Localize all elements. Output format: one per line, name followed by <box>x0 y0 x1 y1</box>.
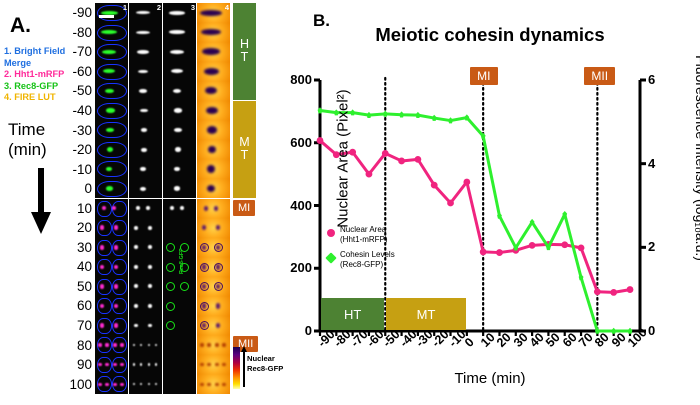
fluorescence-signal <box>200 343 203 346</box>
image-strip-row[interactable] <box>95 159 231 179</box>
fluorescence-signal <box>204 206 209 211</box>
fluorescence-signal <box>105 89 114 93</box>
fluorescence-signal <box>207 185 216 192</box>
timepoint-label: -10 <box>72 162 92 177</box>
micrograph-cell-ch3[interactable] <box>163 81 196 101</box>
fluorescence-signal <box>216 225 221 230</box>
colorbar-caption-line2: Rec8-GFP <box>247 364 283 374</box>
time-direction-arrow-icon <box>36 168 46 234</box>
fluorescence-signal <box>174 108 183 112</box>
legend-label-0: Nuclear Area(Hht1-mRFP) <box>340 225 388 244</box>
legend-label-line2: (Rec8-GFP) <box>340 260 395 270</box>
micrograph-cell-ch2[interactable] <box>129 42 162 62</box>
fluorescence-signal <box>200 10 221 16</box>
fluorescence-signal <box>140 167 145 171</box>
micrograph-cell-ch1[interactable] <box>95 140 128 160</box>
fluorescence-signal <box>215 383 218 386</box>
fluorescence-signal <box>170 206 174 210</box>
rec8-foci-marker <box>166 282 175 291</box>
phase-label-line: T <box>241 51 249 64</box>
fluorescence-signal <box>207 363 210 366</box>
timepoint-label: 70 <box>77 318 92 333</box>
chart-event-badge-mii: MII <box>584 67 615 85</box>
fluorescence-signal <box>134 284 138 288</box>
fluorescence-signal <box>120 343 123 346</box>
micrograph-cell-ch4[interactable] <box>197 62 230 82</box>
channel-number-4: 4 <box>225 3 229 12</box>
micrograph-cell-ch4[interactable] <box>197 316 230 336</box>
micrograph-cell-ch3[interactable]: 3 <box>163 3 196 23</box>
fluorescence-signal <box>140 363 143 366</box>
micrograph-cell-ch4[interactable] <box>197 159 230 179</box>
time-axis-caption-line1: Time <box>8 120 47 140</box>
image-strip-row[interactable]: 1234 <box>95 3 231 23</box>
micrograph-cell-ch1[interactable] <box>95 159 128 179</box>
micrograph-cell-ch3[interactable] <box>163 179 196 199</box>
micrograph-cell-ch3[interactable] <box>163 199 196 219</box>
image-strip-row[interactable] <box>95 120 231 140</box>
rec8-foci-marker <box>200 243 209 252</box>
micrograph-cell-ch2[interactable] <box>129 374 162 394</box>
fluorescence-signal <box>140 109 148 113</box>
micrograph-cell-ch2[interactable] <box>129 355 162 375</box>
micrograph-cell-ch3[interactable] <box>163 316 196 336</box>
micrograph-cell-ch1[interactable] <box>95 120 128 140</box>
fluorescence-signal <box>207 343 210 346</box>
series-marker-0[interactable] <box>627 286 634 293</box>
y-tick-label-left: 800 <box>290 72 312 87</box>
event-badge-mi: MI <box>233 200 255 216</box>
timepoint-label: 20 <box>77 220 92 235</box>
fluorescence-signal <box>174 186 181 190</box>
image-strip-row[interactable] <box>95 81 231 101</box>
fluorescence-signal <box>173 89 182 93</box>
micrograph-cell-ch2[interactable] <box>129 257 162 277</box>
fluorescence-signal <box>214 206 219 211</box>
y-tick-label-left: 200 <box>290 260 312 275</box>
fluorescence-signal <box>107 147 113 152</box>
rec8-foci-marker <box>200 302 209 311</box>
rec8-foci-marker <box>214 282 223 291</box>
micrograph-cell-ch3[interactable] <box>163 159 196 179</box>
series-marker-1[interactable] <box>399 111 404 117</box>
fluorescence-signal <box>98 363 101 366</box>
micrograph-cell-ch2[interactable] <box>129 335 162 355</box>
colorbar-gradient <box>233 347 240 389</box>
series-marker-0[interactable] <box>398 158 405 165</box>
fluorescence-signal <box>222 343 225 346</box>
fluorescence-signal <box>113 363 116 366</box>
micrograph-cell-ch3[interactable] <box>163 62 196 82</box>
rec8-foci-marker <box>214 243 223 252</box>
fluorescence-signal <box>148 226 152 230</box>
panel-a-timepoint-labels: -90-80-70-60-50-40-30-20-100102030405060… <box>52 0 94 400</box>
micrograph-cell-ch3[interactable] <box>163 374 196 394</box>
series-marker-0[interactable] <box>366 171 373 178</box>
fluorescence-signal <box>148 284 152 288</box>
rec8-colorbar: Nuclear Rec8-GFP <box>233 345 297 391</box>
chart-y-axis-label-right: Fluorescence Intensity (log₁₀a.u.) <box>693 43 700 273</box>
timepoint-label: -40 <box>72 103 92 118</box>
micrograph-cell-ch2[interactable] <box>129 316 162 336</box>
series-marker-1[interactable] <box>416 112 421 118</box>
micrograph-cell-ch4[interactable] <box>197 140 230 160</box>
micrograph-cell-ch3[interactable] <box>163 335 196 355</box>
fluorescence-signal <box>200 383 203 386</box>
image-strip-row[interactable] <box>95 277 231 297</box>
micrograph-cell-ch2[interactable] <box>129 238 162 258</box>
series-marker-0[interactable] <box>496 249 503 256</box>
legend-label-1: Cohesin Levels(Rec8-GFP) <box>340 250 395 269</box>
fluorescence-signal <box>137 50 149 54</box>
fluorescence-signal <box>202 225 207 230</box>
micrograph-cell-ch2[interactable] <box>129 159 162 179</box>
y-tick-label-left: 600 <box>290 135 312 150</box>
micrograph-cell-ch2[interactable] <box>129 199 162 219</box>
fluorescence-signal <box>148 383 151 386</box>
series-marker-1[interactable] <box>530 219 535 225</box>
micrograph-cell-ch3[interactable] <box>163 277 196 297</box>
micrograph-cell-ch1[interactable]: 1 <box>95 3 128 23</box>
micrograph-cell-ch1[interactable] <box>95 335 128 355</box>
micrograph-cell-ch3[interactable] <box>163 42 196 62</box>
micrograph-cell-ch3[interactable] <box>163 140 196 160</box>
micrograph-cell-ch3[interactable] <box>163 120 196 140</box>
timepoint-label: 90 <box>77 357 92 372</box>
timepoint-label: -50 <box>72 83 92 98</box>
fluorescence-signal <box>148 265 152 269</box>
micrograph-cell-ch4[interactable] <box>197 179 230 199</box>
image-strip-row[interactable] <box>95 355 231 375</box>
series-marker-1[interactable] <box>318 107 323 113</box>
timepoint-label: 80 <box>77 338 92 353</box>
fluorescence-signal <box>98 383 101 386</box>
micrograph-cell-ch1[interactable] <box>95 179 128 199</box>
fluorescence-signal <box>105 343 108 346</box>
series-marker-1[interactable] <box>367 112 372 118</box>
fluorescence-signal <box>175 147 181 152</box>
fluorescence-signal <box>148 344 151 347</box>
series-marker-1[interactable] <box>562 211 567 217</box>
timepoint-label: 60 <box>77 298 92 313</box>
micrograph-cell-ch4[interactable] <box>197 355 230 375</box>
fluorescence-signal <box>204 68 219 75</box>
colorbar-caption-line1: Nuclear <box>247 354 283 364</box>
micrograph-cell-ch4[interactable] <box>197 277 230 297</box>
fluorescence-signal <box>148 245 152 249</box>
fluorescence-signal <box>140 187 146 191</box>
timepoint-label: 10 <box>77 201 92 216</box>
micrograph-cell-ch1[interactable] <box>95 238 128 258</box>
micrograph-cell-ch2[interactable] <box>129 140 162 160</box>
fluorescence-signal <box>171 69 182 73</box>
y-tick-label-right: 0 <box>648 323 655 338</box>
micrograph-cell-ch2[interactable] <box>129 218 162 238</box>
image-strip-row[interactable] <box>95 23 231 43</box>
fluorescence-signal <box>133 363 136 366</box>
micrograph-cell-ch2[interactable] <box>129 101 162 121</box>
legend-marker-0 <box>327 229 335 237</box>
chart-event-badge-mi: MI <box>470 67 497 85</box>
fluorescence-signal <box>134 324 138 328</box>
fluorescence-signal <box>140 344 143 347</box>
fluorescence-signal <box>215 343 218 346</box>
micrograph-cell-ch4[interactable]: 4 <box>197 3 230 23</box>
image-strip-row[interactable] <box>95 374 231 394</box>
micrograph-cell-ch2[interactable] <box>129 62 162 82</box>
fluorescence-signal <box>134 245 138 249</box>
legend-label-line2: (Hht1-mRFP) <box>340 235 388 245</box>
panel-a-image-strip: 1234Rec8-GFP <box>95 3 231 395</box>
y-tick-label-right: 6 <box>648 72 655 87</box>
micrograph-cell-ch4[interactable] <box>197 199 230 219</box>
fluorescence-signal <box>106 186 113 191</box>
fluorescence-signal <box>169 30 184 34</box>
micrograph-cell-ch1[interactable] <box>95 277 128 297</box>
channel-number-3: 3 <box>191 3 195 12</box>
micrograph-cell-ch4[interactable] <box>197 42 230 62</box>
image-strip-row[interactable] <box>95 62 231 82</box>
micrograph-cell-ch3[interactable] <box>163 101 196 121</box>
fluorescence-signal <box>146 206 150 210</box>
rec8-foci-marker <box>166 302 175 311</box>
micrograph-cell-ch2[interactable] <box>129 120 162 140</box>
micrograph-cell-ch4[interactable] <box>197 238 230 258</box>
fluorescence-signal <box>133 344 136 347</box>
micrograph-cell-ch2[interactable] <box>129 179 162 199</box>
micrograph-cell-ch1[interactable] <box>95 316 128 336</box>
phase-bar-ht: HT <box>233 3 256 100</box>
image-strip-row[interactable] <box>95 335 231 355</box>
fluorescence-signal <box>136 31 150 34</box>
series-marker-0[interactable] <box>561 241 568 248</box>
series-marker-1[interactable] <box>383 111 388 117</box>
image-strip-row[interactable] <box>95 316 231 336</box>
fluorescence-signal <box>134 304 138 308</box>
channel-number-2: 2 <box>157 3 161 12</box>
image-strip-row[interactable] <box>95 140 231 160</box>
micrograph-cell-ch1[interactable] <box>95 355 128 375</box>
fluorescence-signal <box>216 303 221 308</box>
micrograph-cell-ch4[interactable] <box>197 296 230 316</box>
fluorescence-signal <box>155 344 158 347</box>
fluorescence-signal <box>215 363 218 366</box>
image-strip-row[interactable] <box>95 101 231 121</box>
fluorescence-signal <box>216 323 221 328</box>
y-tick-label-left: 400 <box>290 198 312 213</box>
rec8-gfp-inset-label: Rec8-GFP <box>179 248 185 274</box>
time-axis-caption: Time (min) <box>8 120 47 160</box>
fluorescence-signal <box>155 383 158 386</box>
chart-phase-bar-ht: HT <box>321 298 384 330</box>
micrograph-cell-ch4[interactable] <box>197 23 230 43</box>
micrograph-cell-ch2[interactable] <box>129 296 162 316</box>
rec8-foci-marker <box>180 282 189 291</box>
timepoint-label: 100 <box>69 377 92 392</box>
series-line-0 <box>320 141 630 293</box>
fluorescence-signal <box>180 206 184 210</box>
micrograph-cell-ch2[interactable] <box>129 277 162 297</box>
panel-a-label: A. <box>10 14 31 38</box>
micrograph-cell-ch1[interactable] <box>95 374 128 394</box>
fluorescence-signal <box>170 50 183 54</box>
micrograph-cell-ch2[interactable] <box>129 81 162 101</box>
fluorescence-signal <box>141 148 146 152</box>
fluorescence-signal <box>205 87 216 94</box>
micrograph-cell-ch1[interactable] <box>95 296 128 316</box>
timepoint-label: 50 <box>77 279 92 294</box>
fluorescence-signal <box>148 363 151 366</box>
fluorescence-signal <box>100 284 105 289</box>
series-marker-0[interactable] <box>382 150 389 157</box>
fluorescence-signal <box>102 50 116 54</box>
panel-a: A. 1. Bright Field Merge 2. Hht1-mRFP 3.… <box>0 0 300 400</box>
micrograph-cell-ch2[interactable] <box>129 23 162 43</box>
micrograph-cell-ch4[interactable] <box>197 81 230 101</box>
image-strip-row[interactable] <box>95 179 231 199</box>
micrograph-cell-ch1[interactable] <box>95 62 128 82</box>
image-strip-row[interactable] <box>95 199 231 219</box>
micrograph-cell-ch3[interactable] <box>163 296 196 316</box>
series-marker-0[interactable] <box>414 156 421 163</box>
micrograph-cell-ch3[interactable] <box>163 23 196 43</box>
image-strip-row[interactable] <box>95 296 231 316</box>
fluorescence-signal <box>106 108 115 112</box>
timepoint-label: -80 <box>72 25 92 40</box>
scale-bar <box>99 15 114 18</box>
series-marker-0[interactable] <box>447 200 454 207</box>
series-marker-0[interactable] <box>317 137 324 144</box>
micrograph-cell-ch4[interactable] <box>197 335 230 355</box>
fluorescence-signal <box>100 245 105 250</box>
timepoint-label: -30 <box>72 123 92 138</box>
channel-number-1: 1 <box>123 3 127 12</box>
cell-outline <box>97 161 127 177</box>
fluorescence-signal <box>174 167 180 172</box>
micrograph-cell-ch3[interactable] <box>163 218 196 238</box>
time-axis-caption-line2: (min) <box>8 140 47 160</box>
fluorescence-signal <box>141 128 148 132</box>
series-marker-1[interactable] <box>432 115 437 121</box>
fluorescence-signal <box>222 363 225 366</box>
fluorescence-signal <box>114 323 119 328</box>
micrograph-cell-ch1[interactable] <box>95 42 128 62</box>
timepoint-label: 0 <box>84 181 92 196</box>
panel-a-phase-column: HTMTMIMII <box>233 3 269 395</box>
fluorescence-signal <box>155 363 158 366</box>
series-marker-0[interactable] <box>529 242 536 249</box>
fluorescence-signal <box>206 107 217 114</box>
series-marker-1[interactable] <box>464 114 469 120</box>
fluorescence-signal <box>136 11 150 14</box>
fluorescence-signal <box>169 11 185 15</box>
fluorescence-signal <box>113 383 116 386</box>
chart-phase-bar-mt: MT <box>386 298 466 330</box>
image-strip-row[interactable] <box>95 218 231 238</box>
fluorescence-signal <box>208 146 216 154</box>
image-strip-row[interactable] <box>95 238 231 258</box>
rec8-foci-marker <box>166 243 175 252</box>
fluorescence-signal <box>202 48 220 55</box>
micrograph-cell-ch4[interactable] <box>197 120 230 140</box>
fluorescence-signal <box>100 323 105 328</box>
fluorescence-signal <box>174 128 182 132</box>
micrograph-cell-ch1[interactable] <box>95 23 128 43</box>
figure-root: A. 1. Bright Field Merge 2. Hht1-mRFP 3.… <box>0 0 700 400</box>
fluorescence-signal <box>120 383 123 386</box>
micrograph-cell-ch4[interactable] <box>197 218 230 238</box>
fluorescence-signal <box>148 304 152 308</box>
series-marker-0[interactable] <box>480 249 487 256</box>
series-marker-0[interactable] <box>578 244 585 251</box>
fluorescence-signal <box>105 383 108 386</box>
series-marker-0[interactable] <box>594 288 601 295</box>
fluorescence-signal <box>105 363 108 366</box>
image-strip-row[interactable] <box>95 257 231 277</box>
rec8-foci-marker <box>200 282 209 291</box>
legend-label-line1: Cohesin Levels <box>340 250 395 260</box>
series-marker-0[interactable] <box>463 179 470 186</box>
rec8-foci-marker <box>214 263 223 272</box>
fluorescence-signal <box>134 226 138 230</box>
fluorescence-signal <box>138 70 148 74</box>
image-strip-row[interactable] <box>95 42 231 62</box>
micrograph-cell-ch1[interactable] <box>95 257 128 277</box>
micrograph-cell-ch1[interactable] <box>95 81 128 101</box>
rec8-foci-marker <box>200 263 209 272</box>
fluorescence-signal <box>201 29 221 35</box>
series-marker-0[interactable] <box>610 289 617 296</box>
colorbar-caption: Nuclear Rec8-GFP <box>247 354 283 373</box>
timepoint-label: -20 <box>72 142 92 157</box>
fluorescence-signal <box>148 324 152 328</box>
micrograph-cell-ch4[interactable] <box>197 257 230 277</box>
fluorescence-signal <box>139 89 147 93</box>
micrograph-cell-ch4[interactable] <box>197 101 230 121</box>
fluorescence-signal <box>222 383 225 386</box>
fluorescence-signal <box>136 206 140 210</box>
fluorescence-signal <box>98 343 101 346</box>
fluorescence-signal <box>114 245 119 250</box>
series-marker-0[interactable] <box>431 182 438 189</box>
y-tick-label-left: 0 <box>305 323 312 338</box>
rec8-foci-marker <box>166 263 175 272</box>
fluorescence-signal <box>120 363 123 366</box>
micrograph-cell-ch3[interactable] <box>163 355 196 375</box>
timepoint-label: -70 <box>72 44 92 59</box>
fluorescence-signal <box>207 126 217 133</box>
timepoint-label: 40 <box>77 259 92 274</box>
fluorescence-signal <box>207 383 210 386</box>
chart-x-axis-label: Time (min) <box>330 370 650 387</box>
phase-label-line: T <box>241 149 249 162</box>
micrograph-cell-ch1[interactable] <box>95 101 128 121</box>
y-tick-label-right: 2 <box>648 239 655 254</box>
micrograph-cell-ch4[interactable] <box>197 374 230 394</box>
fluorescence-signal <box>200 363 203 366</box>
series-marker-1[interactable] <box>448 117 453 123</box>
micrograph-cell-ch1[interactable] <box>95 199 128 219</box>
fluorescence-signal <box>133 383 136 386</box>
y-tick-label-right: 4 <box>648 156 655 171</box>
micrograph-cell-ch2[interactable]: 2 <box>129 3 162 23</box>
phase-bar-mt: MT <box>233 101 256 198</box>
fluorescence-signal <box>113 343 116 346</box>
micrograph-cell-ch1[interactable] <box>95 218 128 238</box>
rec8-foci-marker <box>200 321 209 330</box>
panel-b: B. Meiotic cohesin dynamics Nuclear Area… <box>300 0 700 400</box>
legend-label-line1: Nuclear Area <box>340 225 388 235</box>
